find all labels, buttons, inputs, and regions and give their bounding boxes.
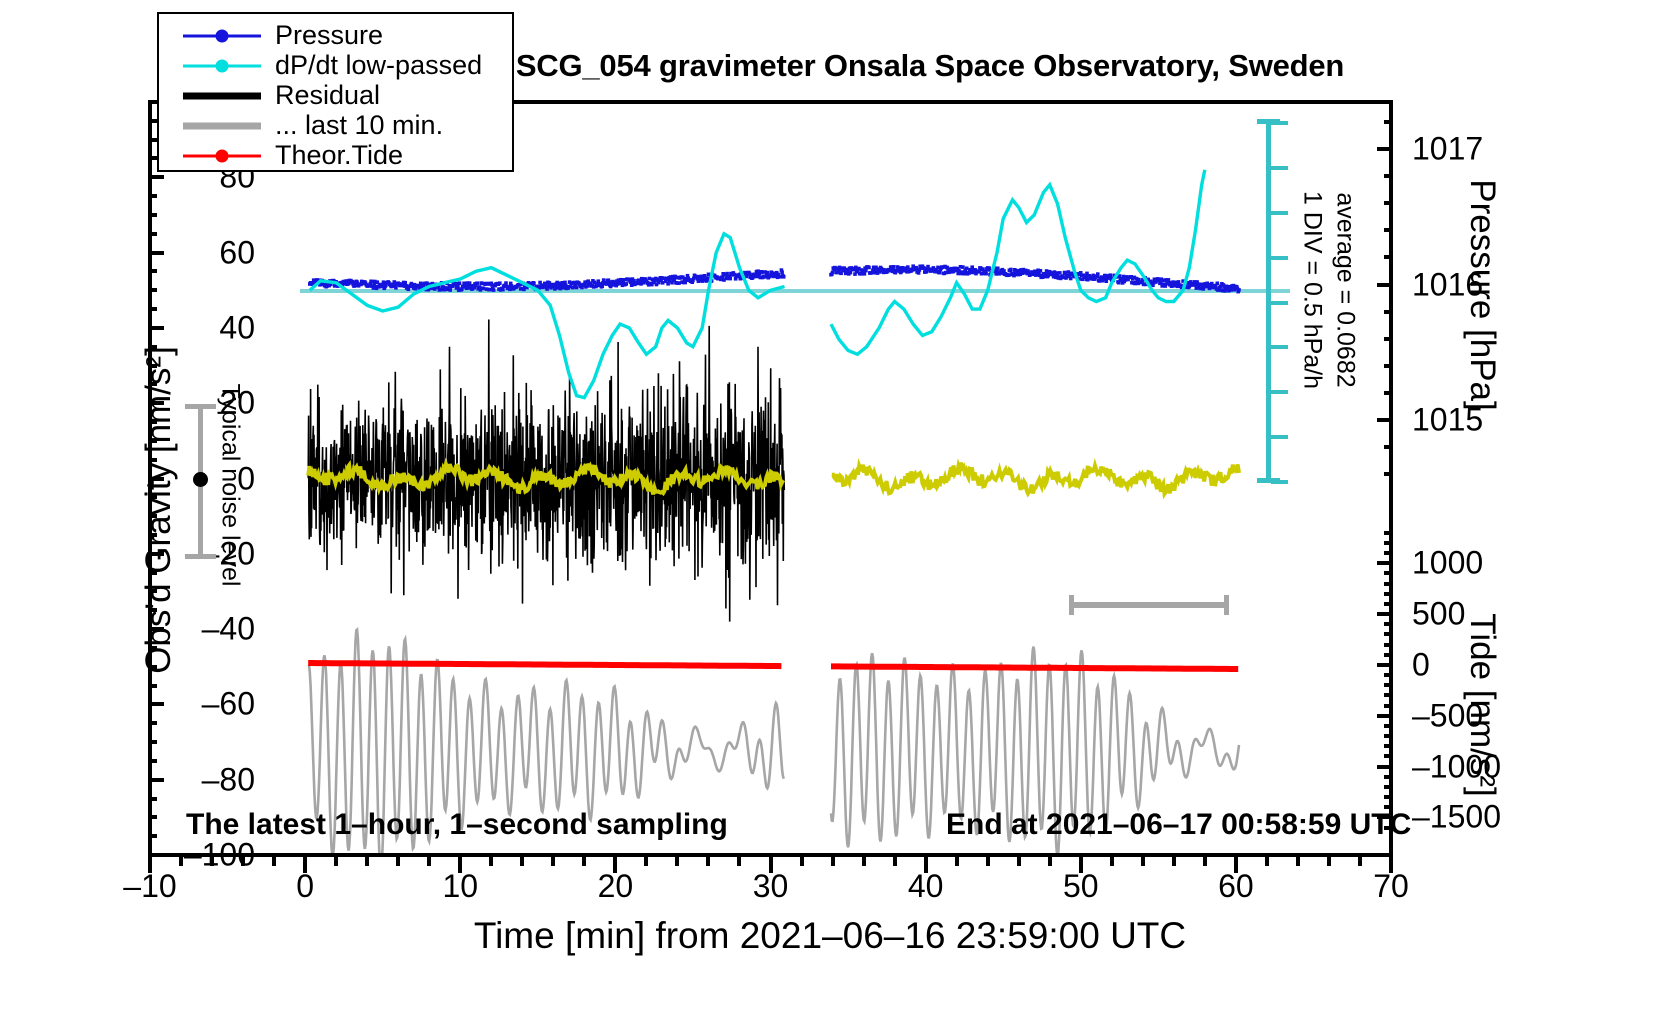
right-tick-mark: [1384, 744, 1393, 748]
right-tick-mark: [1384, 653, 1393, 657]
bottom-axis-label: Time [min] from 2021–06–16 23:59:00 UTC: [0, 915, 1660, 957]
bottom-tick-mark-minor: [800, 857, 804, 866]
cyan-scale-tick: [1271, 435, 1288, 439]
bottom-tick-mark-minor: [179, 857, 183, 866]
right-tide-axis-label: Tide [nm/s²]: [1462, 613, 1502, 796]
right-tick-mark: [1384, 174, 1393, 178]
bottom-tick-mark-minor: [210, 857, 214, 866]
bottom-tick-mark-minor: [241, 857, 245, 866]
legend-swatch-dpdt: [183, 51, 261, 80]
chart-root: 100806040200–20–40–60–80–100 Obs'd Gravi…: [0, 0, 1660, 1020]
legend-label-last10: ... last 10 min.: [275, 110, 443, 141]
right-tick-mark: [1384, 531, 1393, 535]
right-tick-mark: [1377, 561, 1393, 565]
bottom-tick-mark-minor: [1172, 857, 1176, 866]
cyan-scale-tick: [1271, 390, 1288, 394]
right-tick-mark: [1384, 785, 1393, 789]
left-axis-label-wrap: Obs'd Gravity [nm/s²]: [0, 300, 60, 720]
bottom-tick-mark: [1389, 857, 1393, 873]
cyan-scale-tick: [1271, 121, 1288, 125]
bottom-tick-label: 50: [1021, 868, 1141, 905]
bottom-tick-label: 60: [1176, 868, 1296, 905]
note-end-time: End at 2021–06–17 00:58:59 UTC: [946, 808, 1411, 842]
right-tick-mark: [1384, 592, 1393, 596]
bottom-tick-mark-minor: [1358, 857, 1362, 866]
cyan-scale-tick: [1271, 211, 1288, 215]
right-tide-tick-label: 0: [1412, 646, 1430, 683]
bottom-tick-mark-minor: [1017, 857, 1021, 866]
legend-label-dpdt: dP/dt low-passed: [275, 50, 482, 81]
right-tick-mark: [1384, 310, 1393, 314]
legend-item-theortide: Theor.Tide: [159, 141, 512, 170]
bottom-tick-label: 30: [711, 868, 831, 905]
legend-item-last10: ... last 10 min.: [159, 111, 512, 140]
right-tick-mark: [1377, 283, 1393, 287]
right-tick-mark: [1384, 337, 1393, 341]
right-tick-mark: [1377, 418, 1393, 422]
right-tick-mark: [1384, 724, 1393, 728]
bottom-tick-mark-minor: [1110, 857, 1114, 866]
bottom-tick-mark-minor: [955, 857, 959, 866]
bottom-tick-mark: [1234, 857, 1238, 873]
cyan-scale-tick: [1271, 480, 1288, 484]
right-tick-mark: [1384, 602, 1393, 606]
right-tick-mark: [1377, 663, 1393, 667]
legend-label-pressure: Pressure: [275, 20, 383, 51]
right-tick-mark: [1384, 551, 1393, 555]
bottom-tick-mark: [924, 857, 928, 873]
right-tick-mark: [1384, 120, 1393, 124]
bottom-tick-mark-minor: [1327, 857, 1331, 866]
right-tick-mark: [1384, 541, 1393, 545]
right-tick-mark: [1384, 571, 1393, 575]
right-tick-mark: [1384, 201, 1393, 205]
right-tick-mark: [1384, 228, 1393, 232]
right-tick-mark: [1377, 765, 1393, 769]
page-title: SCG_054 gravimeter Onsala Space Observat…: [430, 48, 1430, 84]
right-tick-mark: [1377, 714, 1393, 718]
right-tick-mark: [1377, 147, 1393, 151]
right-tick-mark: [1384, 632, 1393, 636]
bottom-tick-mark-minor: [737, 857, 741, 866]
cyan-scale-tick: [1271, 256, 1288, 260]
bottom-tick-mark: [1079, 857, 1083, 873]
cyan-scale-div-label: 1 DIV = 0.5 hPa/h: [1298, 191, 1327, 389]
legend-item-dpdt: dP/dt low-passed: [159, 51, 512, 80]
bottom-tick-mark-minor: [489, 857, 493, 866]
note-sampling: The latest 1–hour, 1–second sampling: [186, 808, 728, 842]
right-tick-mark: [1384, 754, 1393, 758]
bottom-tick-mark-minor: [334, 857, 338, 866]
bottom-tick-mark-minor: [706, 857, 710, 866]
bottom-tick-mark: [613, 857, 617, 873]
bottom-tick-mark-minor: [1265, 857, 1269, 866]
right-tick-mark: [1384, 472, 1393, 476]
bottom-tick-mark-minor: [520, 857, 524, 866]
legend: Pressure dP/dt low-passed Residual ... l…: [157, 12, 514, 172]
cyan-scale-tick: [1271, 301, 1288, 305]
bottom-tick-label: 20: [555, 868, 675, 905]
right-tick-mark: [1384, 445, 1393, 449]
right-pressure-axis-label: Pressure [hPa]: [1462, 179, 1502, 411]
bottom-tick-label: 40: [866, 868, 986, 905]
noise-label-wrap: Typical noise level: [210, 390, 250, 580]
bottom-tick-label: 10: [400, 868, 520, 905]
bottom-tick-mark-minor: [675, 857, 679, 866]
bottom-tick-mark-minor: [1296, 857, 1300, 866]
right-tick-mark: [1384, 622, 1393, 626]
right-tick-mark: [1384, 683, 1393, 687]
bottom-tick-mark-minor: [427, 857, 431, 866]
right-pressure-label-wrap: Pressure [hPa]: [1452, 130, 1512, 460]
right-tick-mark: [1384, 364, 1393, 368]
bottom-tick-label: 0: [245, 868, 365, 905]
right-tick-mark: [1384, 673, 1393, 677]
legend-swatch-residual: [183, 81, 261, 110]
right-tick-mark: [1384, 582, 1393, 586]
legend-item-residual: Residual: [159, 81, 512, 110]
last10-indicator-bar: [1070, 602, 1228, 608]
bottom-tick-mark-minor: [365, 857, 369, 866]
bottom-tick-mark-minor: [551, 857, 555, 866]
bottom-tick-mark: [303, 857, 307, 873]
bottom-tick-mark-minor: [1141, 857, 1145, 866]
legend-label-theortide: Theor.Tide: [275, 140, 403, 171]
legend-label-residual: Residual: [275, 80, 380, 111]
right-tick-mark: [1384, 795, 1393, 799]
legend-item-pressure: Pressure: [159, 21, 512, 50]
bottom-tick-mark: [148, 857, 152, 873]
cyan-scale-average-label: average = 0.0682: [1331, 192, 1360, 387]
right-tide-label-wrap: Tide [nm/s²]: [1452, 540, 1512, 870]
bottom-tick-label: 70: [1331, 868, 1451, 905]
bottom-tick-mark: [458, 857, 462, 873]
bottom-tick-mark-minor: [831, 857, 835, 866]
bottom-tick-mark: [769, 857, 773, 873]
last10-indicator-right-cap: [1224, 595, 1229, 615]
right-tick-mark: [1384, 775, 1393, 779]
cyan-scale-average-label-wrap: average = 0.0682: [1325, 185, 1365, 395]
legend-swatch-pressure: [183, 21, 261, 50]
bottom-tick-mark-minor: [582, 857, 586, 866]
right-tick-mark: [1384, 734, 1393, 738]
bottom-tick-mark-minor: [862, 857, 866, 866]
legend-swatch-last10: [183, 111, 261, 140]
bottom-tick-mark-minor: [986, 857, 990, 866]
right-tick-mark: [1384, 643, 1393, 647]
noise-level-label: Typical noise level: [216, 384, 245, 587]
bottom-tick-mark-minor: [396, 857, 400, 866]
right-tick-mark: [1384, 391, 1393, 395]
bottom-tick-mark-minor: [1203, 857, 1207, 866]
bottom-tick-label: –10: [90, 868, 210, 905]
right-tick-mark: [1377, 612, 1393, 616]
bottom-tick-mark-minor: [272, 857, 276, 866]
bottom-tick-mark-minor: [1048, 857, 1052, 866]
cyan-scale-tick: [1271, 166, 1288, 170]
noise-center-dot: [193, 472, 208, 487]
right-tick-mark: [1384, 693, 1393, 697]
cyan-scale-tick: [1271, 345, 1288, 349]
bottom-tick-mark-minor: [644, 857, 648, 866]
legend-swatch-theortide: [183, 141, 261, 170]
plot-frame: [148, 100, 1393, 857]
bottom-tick-mark-minor: [893, 857, 897, 866]
right-tick-mark: [1384, 255, 1393, 259]
right-tick-mark: [1384, 704, 1393, 708]
